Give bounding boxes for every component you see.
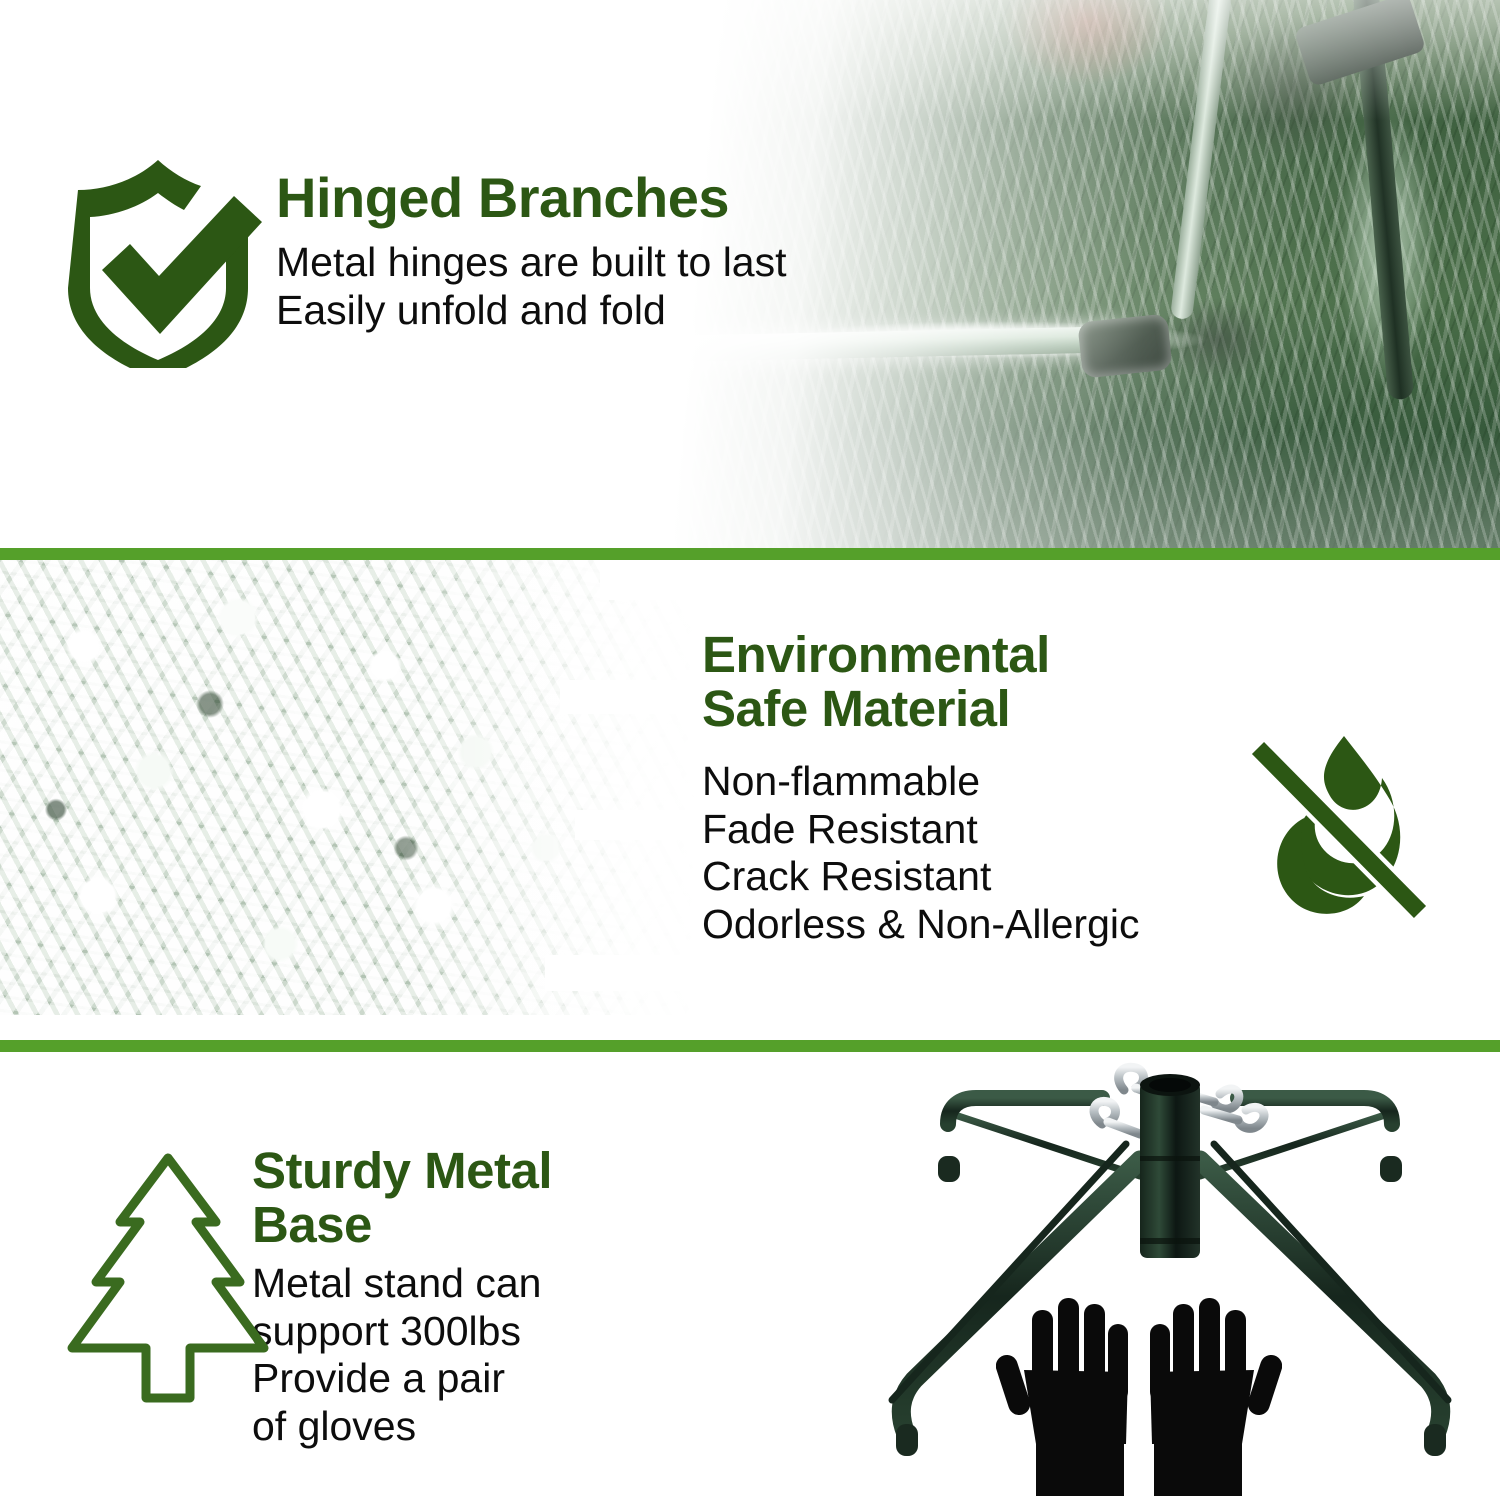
no-flame-icon xyxy=(1248,726,1432,922)
body-line: Easily unfold and fold xyxy=(276,287,936,335)
photo-edge-notch xyxy=(575,810,700,840)
photo-edge-notch xyxy=(0,1015,700,1040)
metal-tree-stand-photo xyxy=(840,1052,1500,1500)
body-line: Metal stand can xyxy=(252,1260,672,1308)
shield-check-icon xyxy=(58,148,270,368)
hinged-branches-text-block: Hinged Branches Metal hinges are built t… xyxy=(276,168,936,334)
flocked-tree-photo xyxy=(0,560,700,1040)
environmental-body: Non-flammable Fade Resistant Crack Resis… xyxy=(702,758,1282,948)
sturdy-base-heading: Sturdy Metal Base xyxy=(252,1144,672,1252)
heading-line: Environmental xyxy=(702,628,1282,682)
body-line: Odorless & Non-Allergic xyxy=(702,901,1282,949)
sturdy-base-body: Metal stand can support 300lbs Provide a… xyxy=(252,1260,672,1450)
body-line: Non-flammable xyxy=(702,758,1282,806)
body-line: Provide a pair xyxy=(252,1355,672,1403)
hinged-branches-heading: Hinged Branches xyxy=(276,168,936,227)
hinged-branches-body: Metal hinges are built to last Easily un… xyxy=(276,239,936,334)
glove-right xyxy=(1132,1284,1282,1499)
body-line: support 300lbs xyxy=(252,1308,672,1356)
photo-edge-notch xyxy=(545,955,700,991)
divider-line-2 xyxy=(0,1040,1500,1052)
sturdy-base-text-block: Sturdy Metal Base Metal stand can suppor… xyxy=(252,1144,672,1450)
panel-hinged-branches: Hinged Branches Metal hinges are built t… xyxy=(0,0,1500,548)
environmental-heading: Environmental Safe Material xyxy=(702,628,1282,736)
heading-line: Safe Material xyxy=(702,682,1282,736)
divider-line-1 xyxy=(0,548,1500,560)
body-line: Metal hinges are built to last xyxy=(276,239,936,287)
glove-left xyxy=(996,1284,1146,1499)
body-line: of gloves xyxy=(252,1403,672,1451)
body-line: Fade Resistant xyxy=(702,806,1282,854)
infographic-page: Hinged Branches Metal hinges are built t… xyxy=(0,0,1500,1500)
photo-edge-notch xyxy=(600,560,700,600)
photo-edge-notch xyxy=(560,680,700,714)
christmas-tree-outline-icon xyxy=(58,1148,278,1418)
body-line: Crack Resistant xyxy=(702,853,1282,901)
environmental-text-block: Environmental Safe Material Non-flammabl… xyxy=(702,628,1282,948)
